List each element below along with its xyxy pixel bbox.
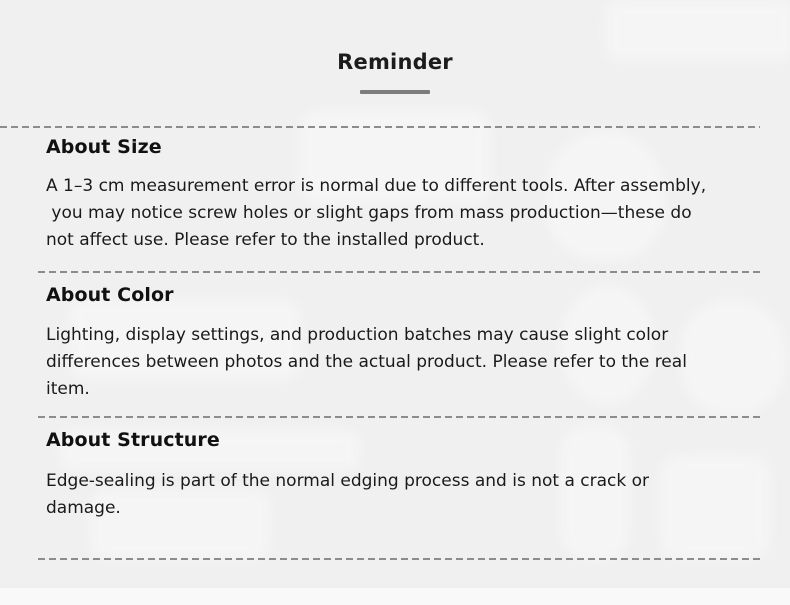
section-body-text: Edge-sealing is part of the normal edgin… [46,468,752,522]
section-about-color: About Color Lighting, display settings, … [46,284,756,403]
divider-after-color [38,416,760,418]
section-body-text: A 1–3 cm measurement error is normal due… [46,173,752,254]
divider-bottom [38,558,760,560]
section-heading: About Structure [46,429,756,453]
section-about-structure: About Structure Edge-sealing is part of … [46,429,756,522]
page-title: Reminder [0,50,790,75]
section-heading: About Color [46,284,756,308]
section-body-text: Lighting, display settings, and producti… [46,322,752,403]
section-heading: About Size [46,136,756,160]
divider-after-size [38,271,760,273]
page-header: Reminder [0,50,790,94]
title-underline-rule [360,90,430,94]
section-about-size: About Size A 1–3 cm measurement error is… [46,136,756,254]
bottom-band [0,588,790,605]
divider-top [0,126,760,128]
reminder-page: Reminder About Size A 1–3 cm measurement… [0,0,790,605]
